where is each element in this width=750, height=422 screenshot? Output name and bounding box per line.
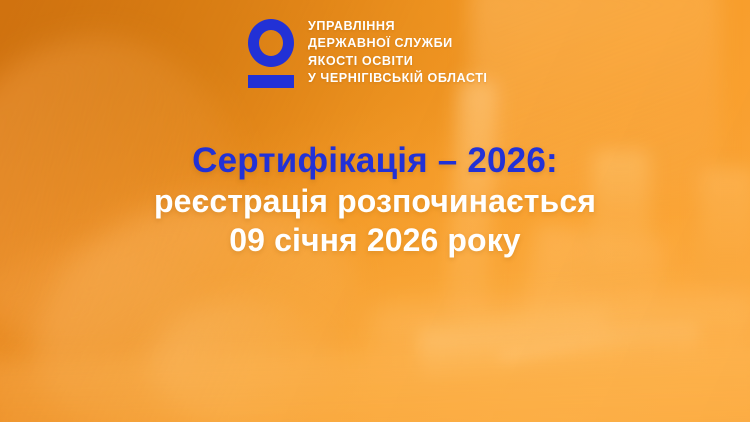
logo-wordmark: УПРАВЛІННЯ ДЕРЖАВНОЇ СЛУЖБИ ЯКОСТІ ОСВІТ… (308, 16, 488, 88)
headline-block: Сертифікація – 2026: реєстрація розпочин… (0, 140, 750, 260)
logo-line-3: ЯКОСТІ ОСВІТИ (308, 53, 488, 70)
announcement-banner: УПРАВЛІННЯ ДЕРЖАВНОЇ СЛУЖБИ ЯКОСТІ ОСВІТ… (0, 0, 750, 422)
bar-icon (248, 75, 294, 88)
ring-icon (248, 19, 294, 67)
logo-emblem-icon (248, 16, 294, 88)
logo-line-4: У ЧЕРНІГІВСЬКІЙ ОБЛАСТІ (308, 70, 488, 87)
headline-title: Сертифікація – 2026: (0, 140, 750, 182)
headline-start-date: 09 січня 2026 року (0, 221, 750, 260)
organisation-logo: УПРАВЛІННЯ ДЕРЖАВНОЇ СЛУЖБИ ЯКОСТІ ОСВІТ… (248, 16, 488, 88)
headline-subtitle: реєстрація розпочинається (0, 182, 750, 221)
logo-line-1: УПРАВЛІННЯ (308, 18, 488, 35)
logo-line-2: ДЕРЖАВНОЇ СЛУЖБИ (308, 35, 488, 52)
